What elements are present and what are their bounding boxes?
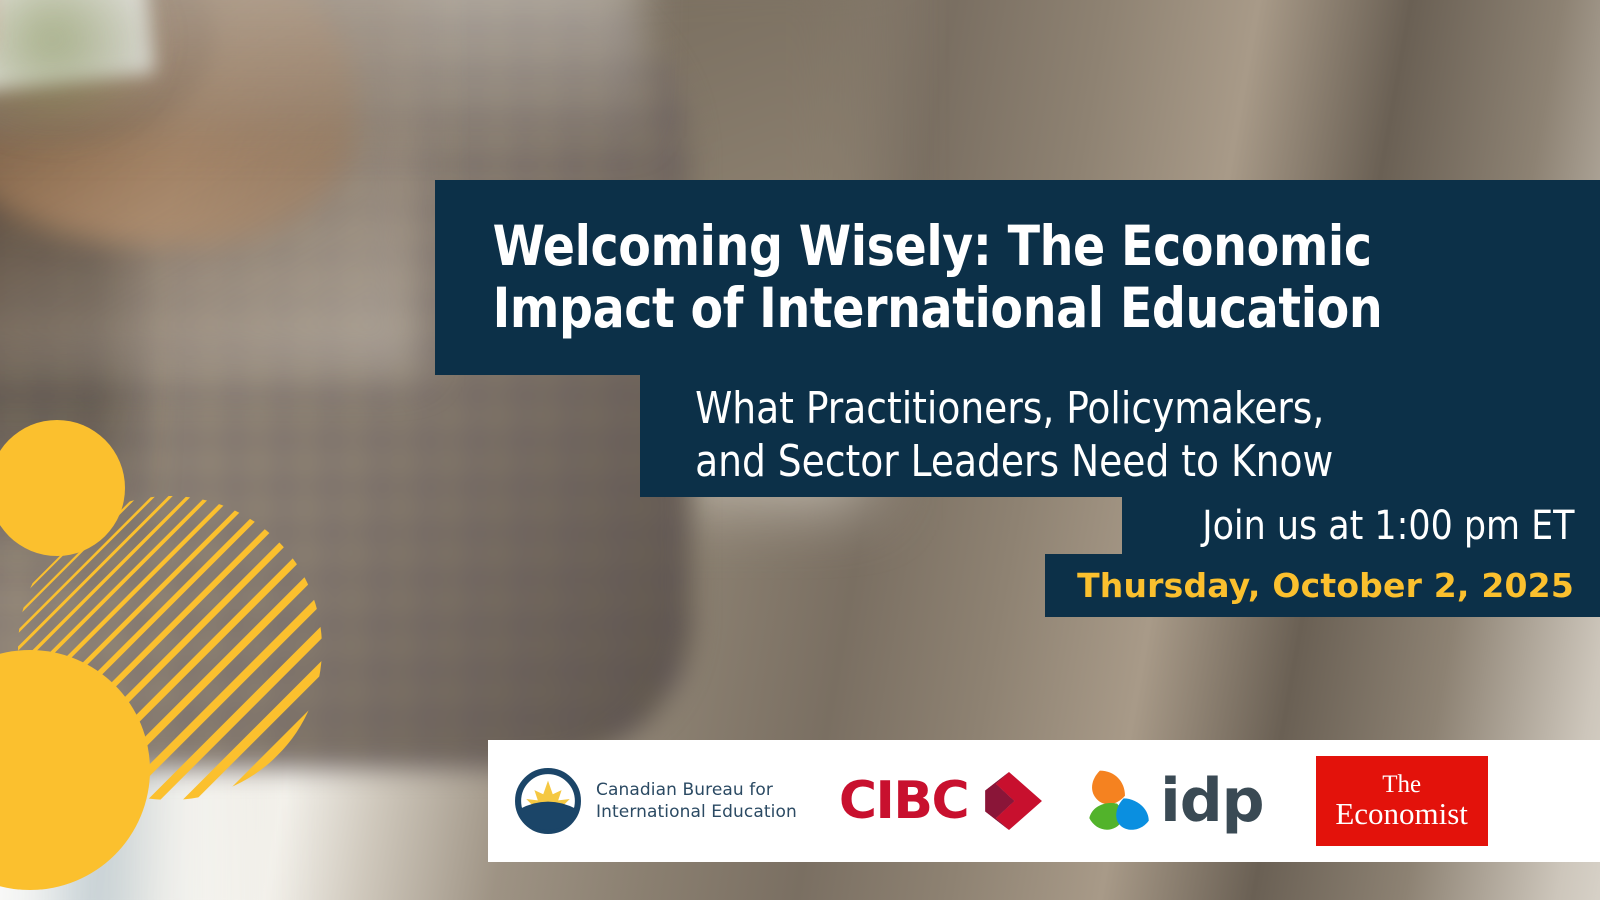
logo-economist[interactable]: The Economist (1316, 740, 1488, 862)
title-band: Welcoming Wisely: The Economic Impact of… (435, 180, 1600, 375)
decorative-circle-large (0, 650, 150, 890)
event-date: Thursday, October 2, 2025 (1077, 569, 1600, 602)
webinar-promo-banner: Welcoming Wisely: The Economic Impact of… (0, 0, 1600, 900)
idp-wordmark: idp (1160, 771, 1263, 831)
maple-leaf-in-circle-icon (514, 767, 582, 835)
logo-idp[interactable]: idp (1088, 740, 1263, 862)
economist-name: Economist (1335, 798, 1468, 830)
cbie-wordmark: Canadian Bureau for International Educat… (596, 779, 797, 824)
decorative-yellow-graphic (0, 420, 420, 900)
event-date-band: Thursday, October 2, 2025 (1045, 554, 1600, 617)
event-time: Join us at 1:00 pm ET (1203, 506, 1600, 546)
cibc-diamond-icon (976, 772, 1042, 830)
logo-cbie[interactable]: Canadian Bureau for International Educat… (488, 740, 797, 862)
idp-three-petal-icon (1088, 769, 1154, 833)
sponsor-logo-bar: Canadian Bureau for International Educat… (488, 740, 1600, 862)
photo-plant-blur (0, 0, 164, 138)
cibc-wordmark: CIBC (839, 775, 968, 827)
subtitle-band: What Practitioners, Policymakers, and Se… (640, 375, 1600, 497)
economist-the: The (1382, 772, 1421, 798)
economist-red-box-icon: The Economist (1316, 756, 1488, 846)
page-title: Welcoming Wisely: The Economic Impact of… (435, 216, 1407, 339)
decorative-circle-small (0, 420, 125, 556)
logo-cibc[interactable]: CIBC (839, 740, 1042, 862)
page-subtitle: What Practitioners, Policymakers, and Se… (640, 383, 1358, 489)
event-time-band: Join us at 1:00 pm ET (1122, 497, 1600, 554)
